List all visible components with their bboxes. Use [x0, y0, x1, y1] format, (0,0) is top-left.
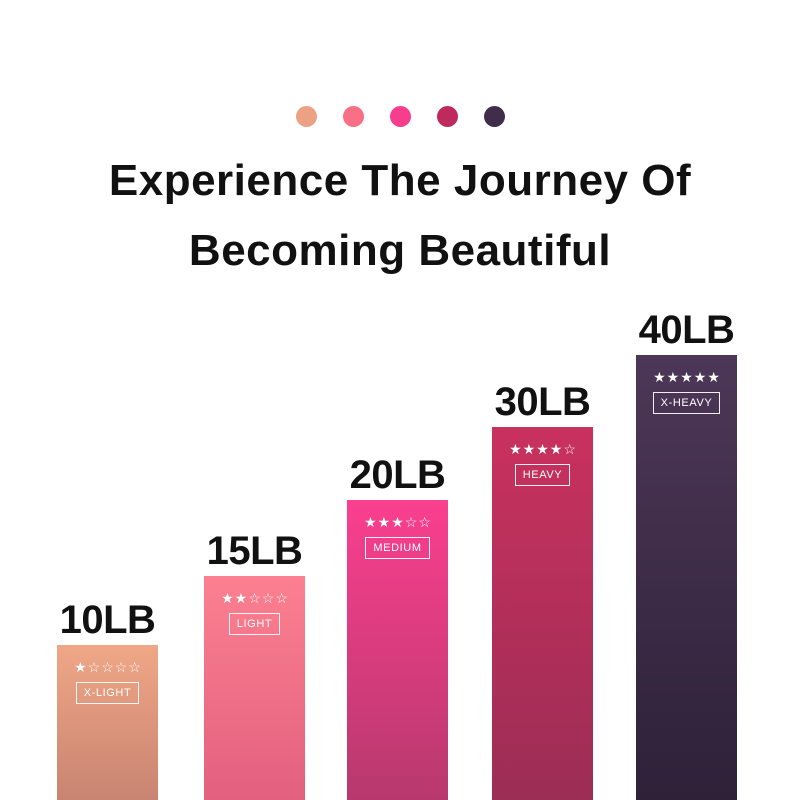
star-empty-icon: ☆: [115, 659, 128, 675]
star-empty-icon: ☆: [275, 590, 288, 606]
star-empty-icon: ☆: [563, 441, 576, 457]
bar-weight-label: 40LB: [639, 308, 735, 352]
star-rating: ★★★★★: [653, 369, 720, 385]
star-filled-icon: ★: [364, 514, 377, 530]
bar-badge-group: ★★☆☆☆LIGHT: [204, 590, 305, 635]
bar-weight-label: 15LB: [207, 529, 303, 573]
bar-weight-label: 30LB: [495, 380, 591, 424]
star-rating: ★☆☆☆☆: [74, 659, 141, 675]
resistance-level-badge: X-HEAVY: [653, 392, 721, 414]
star-filled-icon: ★: [74, 659, 87, 675]
star-filled-icon: ★: [523, 441, 536, 457]
bar-fill: ★★★★☆HEAVY: [492, 427, 593, 800]
star-filled-icon: ★: [667, 369, 680, 385]
bar-badge-group: ★★★★☆HEAVY: [492, 441, 593, 486]
bar-weight-label: 20LB: [350, 453, 446, 497]
star-rating: ★★★★☆: [509, 441, 576, 457]
star-empty-icon: ☆: [418, 514, 431, 530]
star-filled-icon: ★: [509, 441, 522, 457]
resistance-level-badge: X-LIGHT: [76, 682, 140, 704]
bar-heavy[interactable]: ★★★★☆HEAVY30LB: [492, 427, 593, 800]
star-filled-icon: ★: [694, 369, 707, 385]
bar-badge-group: ★★★☆☆MEDIUM: [347, 514, 448, 559]
star-filled-icon: ★: [653, 369, 666, 385]
resistance-band-poster: Experience The Journey Of Becoming Beaut…: [0, 0, 800, 800]
bar-fill: ★☆☆☆☆X-LIGHT: [57, 645, 158, 800]
star-filled-icon: ★: [378, 514, 391, 530]
star-filled-icon: ★: [550, 441, 563, 457]
resistance-level-bar-chart: ★☆☆☆☆X-LIGHT10LB★★☆☆☆LIGHT15LB★★★☆☆MEDIU…: [0, 0, 800, 800]
bar-fill: ★★★☆☆MEDIUM: [347, 500, 448, 800]
star-filled-icon: ★: [235, 590, 248, 606]
bar-fill: ★★☆☆☆LIGHT: [204, 576, 305, 800]
bar-badge-group: ★★★★★X-HEAVY: [636, 369, 737, 414]
star-rating: ★★★☆☆: [364, 514, 431, 530]
star-empty-icon: ☆: [262, 590, 275, 606]
bar-medium[interactable]: ★★★☆☆MEDIUM20LB: [347, 500, 448, 800]
star-filled-icon: ★: [391, 514, 404, 530]
bar-badge-group: ★☆☆☆☆X-LIGHT: [57, 659, 158, 704]
resistance-level-badge: LIGHT: [229, 613, 280, 635]
star-empty-icon: ☆: [128, 659, 141, 675]
bar-fill: ★★★★★X-HEAVY: [636, 355, 737, 800]
star-filled-icon: ★: [707, 369, 720, 385]
star-empty-icon: ☆: [101, 659, 114, 675]
bar-x-light[interactable]: ★☆☆☆☆X-LIGHT10LB: [57, 645, 158, 800]
bar-x-heavy[interactable]: ★★★★★X-HEAVY40LB: [636, 355, 737, 800]
star-empty-icon: ☆: [88, 659, 101, 675]
star-rating: ★★☆☆☆: [221, 590, 288, 606]
star-empty-icon: ☆: [248, 590, 261, 606]
resistance-level-badge: MEDIUM: [365, 537, 429, 559]
bar-weight-label: 10LB: [60, 598, 156, 642]
star-filled-icon: ★: [221, 590, 234, 606]
star-filled-icon: ★: [536, 441, 549, 457]
star-empty-icon: ☆: [405, 514, 418, 530]
bar-light[interactable]: ★★☆☆☆LIGHT15LB: [204, 576, 305, 800]
resistance-level-badge: HEAVY: [515, 464, 570, 486]
star-filled-icon: ★: [680, 369, 693, 385]
